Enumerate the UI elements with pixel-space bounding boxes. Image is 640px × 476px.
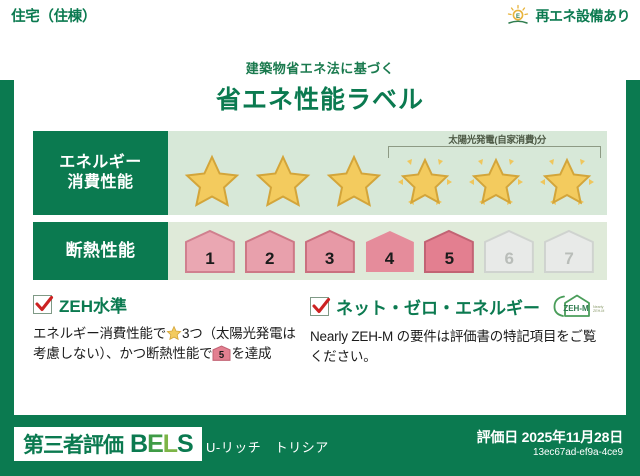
evaluation-date: 評価日 2025年11月28日: [477, 427, 623, 447]
insulation-level-2: 2: [242, 228, 298, 274]
certification-notes: ZEH水準 エネルギー消費性能で3つ（太陽光発電は考慮しない）、かつ断熱性能で5…: [33, 292, 607, 368]
building-name: U-リッチ トリシア: [206, 437, 329, 456]
star-icon: [166, 325, 182, 341]
zeh-standard-header: ZEH水準: [33, 292, 296, 317]
svg-text:5: 5: [219, 350, 225, 361]
star-icon: [182, 152, 242, 210]
insulation-level-5-value: 5: [445, 249, 454, 269]
svg-text:ZEH-M: ZEH-M: [563, 304, 589, 313]
insulation-level-4: 4: [362, 228, 418, 274]
insulation-label-text: 断熱性能: [66, 240, 136, 261]
energy-performance-label-box: エネルギー 消費性能: [33, 131, 168, 215]
star-rating: [176, 149, 603, 213]
svg-text:ZEH-M: ZEH-M: [593, 309, 604, 313]
dwelling-type-tag: 住宅（住棟）: [0, 0, 128, 31]
title-block: 建築物省エネ法に基づく 省エネ性能ラベル: [14, 58, 626, 116]
bels-logo-text: BELS: [130, 430, 193, 459]
star-solar-icon: [395, 152, 455, 210]
zeh-m-logo: ZEH-M Nearly ZEH-M: [551, 292, 607, 320]
zeh-standard-title: ZEH水準: [59, 292, 127, 317]
net-zero-energy-body: Nearly ZEH-M の要件は評価書の特記項目をご覧ください。: [310, 327, 607, 368]
zeh-standard-note: ZEH水準 エネルギー消費性能で3つ（太陽光発電は考慮しない）、かつ断熱性能で5…: [33, 292, 296, 368]
zeh-standard-checkbox: [33, 295, 52, 314]
insulation-level-2-value: 2: [265, 249, 274, 269]
insulation-levels-area: 1 2 3 4: [168, 222, 607, 280]
star-icon: [253, 152, 313, 210]
insulation-level-scale: 1 2 3 4: [182, 226, 597, 276]
net-zero-energy-header: ネット・ゼロ・エネルギー ZEH-M Nearly ZEH-M: [310, 292, 607, 320]
zeh-body-part1: エネルギー消費性能で: [33, 326, 166, 341]
renewable-badge-text: 再エネ設備あり: [536, 6, 631, 26]
svg-text:E: E: [515, 14, 519, 20]
energy-stars-area: 太陽光発電(自家消費)分: [168, 131, 607, 215]
energy-performance-label: 住宅（住棟） E 再エネ設備あり 建築物省エネ法に基づく 省エネ性能ラベル: [0, 0, 640, 476]
evaluation-id: 13ec67ad-ef9a-4ce9: [533, 447, 623, 458]
insulation-level-1-value: 1: [205, 249, 214, 269]
solar-bracket-caption: 太陽光発電(自家消費)分: [388, 132, 608, 146]
sun-icon: E: [505, 4, 531, 28]
insulation-performance-row: 断熱性能 1 2 3: [33, 222, 607, 280]
title-subtitle: 建築物省エネ法に基づく: [14, 58, 626, 77]
house-5-icon: 5: [212, 345, 231, 361]
renewable-equipment-badge: E 再エネ設備あり: [497, 0, 640, 32]
dwelling-type-text: 住宅（住棟）: [11, 5, 96, 26]
solar-bracket: [388, 146, 602, 158]
star-icon: [324, 152, 384, 210]
check-icon: [33, 293, 55, 315]
insulation-level-7-value: 7: [564, 249, 573, 269]
net-zero-checkbox: [310, 297, 329, 316]
star-solar-icon: [466, 152, 526, 210]
insulation-level-6-value: 6: [504, 249, 513, 269]
insulation-performance-label-box: 断熱性能: [33, 222, 168, 280]
label-main-panel: 建築物省エネ法に基づく 省エネ性能ラベル エネルギー 消費性能 太陽光発電(自家…: [14, 47, 626, 415]
insulation-level-6: 6: [481, 228, 537, 274]
rating-rows: エネルギー 消費性能 太陽光発電(自家消費)分: [33, 131, 607, 287]
zeh-body-part3: を達成: [231, 346, 271, 361]
bels-certification-box: 第三者評価 BELS: [14, 427, 202, 461]
insulation-level-7: 7: [541, 228, 597, 274]
label-footer: 第三者評価 BELS U-リッチ トリシア 評価日 2025年11月28日 13…: [0, 415, 640, 476]
energy-performance-row: エネルギー 消費性能 太陽光発電(自家消費)分: [33, 131, 607, 215]
bels-jp-text: 第三者評価: [23, 429, 123, 459]
net-zero-energy-note: ネット・ゼロ・エネルギー ZEH-M Nearly ZEH-M Nearly Z…: [310, 292, 607, 368]
insulation-level-3-value: 3: [325, 249, 334, 269]
energy-label-line2: 消費性能: [67, 173, 133, 193]
check-icon: [310, 295, 332, 317]
energy-label-line1: エネルギー: [59, 153, 142, 173]
net-zero-energy-title: ネット・ゼロ・エネルギー: [336, 294, 540, 319]
insulation-level-4-value: 4: [385, 249, 394, 269]
insulation-level-3: 3: [302, 228, 358, 274]
zeh-standard-body: エネルギー消費性能で3つ（太陽光発電は考慮しない）、かつ断熱性能で5を達成: [33, 324, 296, 365]
star-solar-icon: [537, 152, 597, 210]
insulation-level-5: 5: [421, 228, 477, 274]
insulation-level-1: 1: [182, 228, 238, 274]
page-title: 省エネ性能ラベル: [14, 80, 626, 116]
